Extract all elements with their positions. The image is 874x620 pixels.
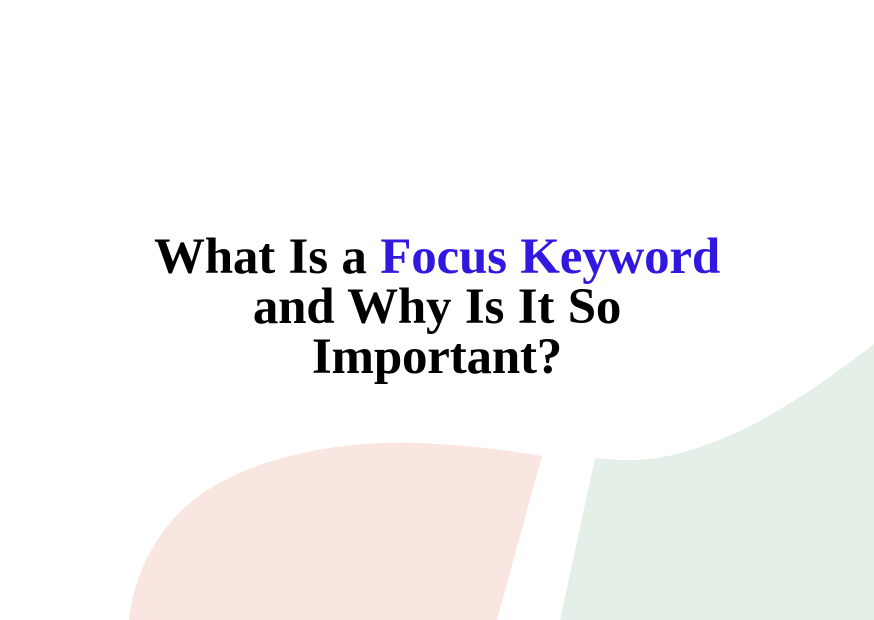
- slide-canvas: What Is a Focus Keyword and Why Is It So…: [0, 0, 874, 620]
- headline-line-1: What Is a Focus Keyword: [0, 232, 874, 282]
- headline-accent-focus-keyword: Focus Keyword: [380, 229, 720, 285]
- green-wave-shape: [560, 344, 874, 620]
- pink-blob-shape: [129, 443, 542, 620]
- headline-line-1-plain: What Is a: [154, 229, 380, 285]
- page-title: What Is a Focus Keyword and Why Is It So…: [0, 232, 874, 382]
- headline-line-3: Important?: [0, 332, 874, 382]
- headline-block: What Is a Focus Keyword and Why Is It So…: [0, 232, 874, 382]
- headline-line-2: and Why Is It So: [0, 282, 874, 332]
